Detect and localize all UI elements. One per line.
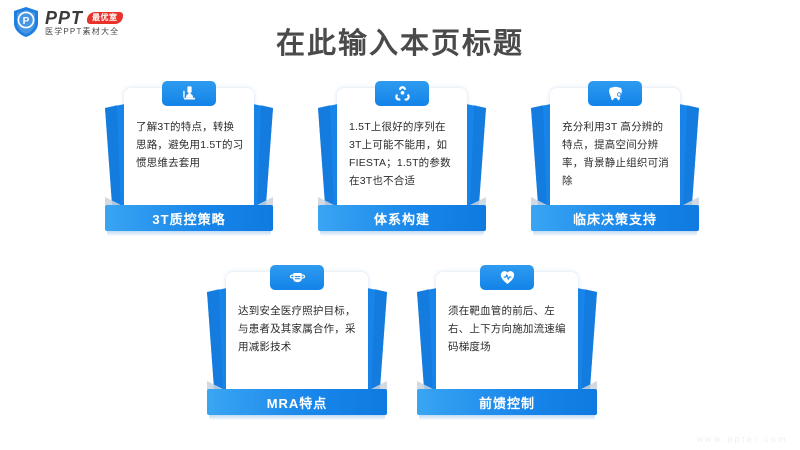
- info-card-3[interactable]: 充分利用3T 高分辨的特点，提高空间分辨率，背景静止组织可消除 临床决策支持: [531, 78, 699, 243]
- card-body-text: 达到安全医疗照护目标，与患者及其家属合作，采用减影技术: [238, 302, 358, 356]
- card-label-text: 体系构建: [374, 209, 430, 228]
- card-label-text: MRA特点: [267, 393, 328, 412]
- card-label-text: 临床决策支持: [573, 209, 657, 228]
- card-body-text: 须在靶血管的前后、左右、上下方向施加流速编码梯度场: [448, 302, 568, 356]
- card-label-bar[interactable]: MRA特点: [207, 389, 387, 415]
- heart-pulse-icon: [480, 265, 534, 290]
- card-label-bar[interactable]: 体系构建: [318, 205, 486, 231]
- info-card-1[interactable]: 了解3T的特点，转换思路，避免用1.5T的习惯思维去套用 3T质控策略: [105, 78, 273, 243]
- microscope-icon: [162, 81, 216, 106]
- card-paper: 充分利用3T 高分辨的特点，提高空间分辨率，背景静止组织可消除: [550, 88, 680, 209]
- radiation-icon: [375, 81, 429, 106]
- card-label-text: 前馈控制: [479, 393, 535, 412]
- slide-canvas: P PPT 最优室 医学PPT素材大全 在此输入本页标题: [0, 0, 800, 450]
- card-label-bar[interactable]: 临床决策支持: [531, 205, 699, 231]
- card-body-text: 1.5T上很好的序列在3T上可能不能用，如FIESTA；1.5T的参数在3T也不…: [349, 118, 457, 190]
- card-body-text: 了解3T的特点，转换思路，避免用1.5T的习惯思维去套用: [136, 118, 244, 172]
- page-title: 在此输入本页标题: [0, 20, 800, 62]
- card-label-bar[interactable]: 3T质控策略: [105, 205, 273, 231]
- card-paper: 了解3T的特点，转换思路，避免用1.5T的习惯思维去套用: [124, 88, 254, 209]
- face-mask-icon: [270, 265, 324, 290]
- watermark: www.ppter.com: [697, 434, 788, 444]
- info-card-4[interactable]: 达到安全医疗照护目标，与患者及其家属合作，采用减影技术 MRA特点: [207, 262, 387, 427]
- info-card-2[interactable]: 1.5T上很好的序列在3T上可能不能用，如FIESTA；1.5T的参数在3T也不…: [318, 78, 486, 243]
- info-card-5[interactable]: 须在靶血管的前后、左右、上下方向施加流速编码梯度场 前馈控制: [417, 262, 597, 427]
- card-body-text: 充分利用3T 高分辨的特点，提高空间分辨率，背景静止组织可消除: [562, 118, 670, 190]
- tooth-icon: [588, 81, 642, 106]
- card-paper: 达到安全医疗照护目标，与患者及其家属合作，采用减影技术: [226, 272, 368, 393]
- card-label-bar[interactable]: 前馈控制: [417, 389, 597, 415]
- card-label-text: 3T质控策略: [152, 209, 225, 228]
- card-paper: 须在靶血管的前后、左右、上下方向施加流速编码梯度场: [436, 272, 578, 393]
- card-paper: 1.5T上很好的序列在3T上可能不能用，如FIESTA；1.5T的参数在3T也不…: [337, 88, 467, 209]
